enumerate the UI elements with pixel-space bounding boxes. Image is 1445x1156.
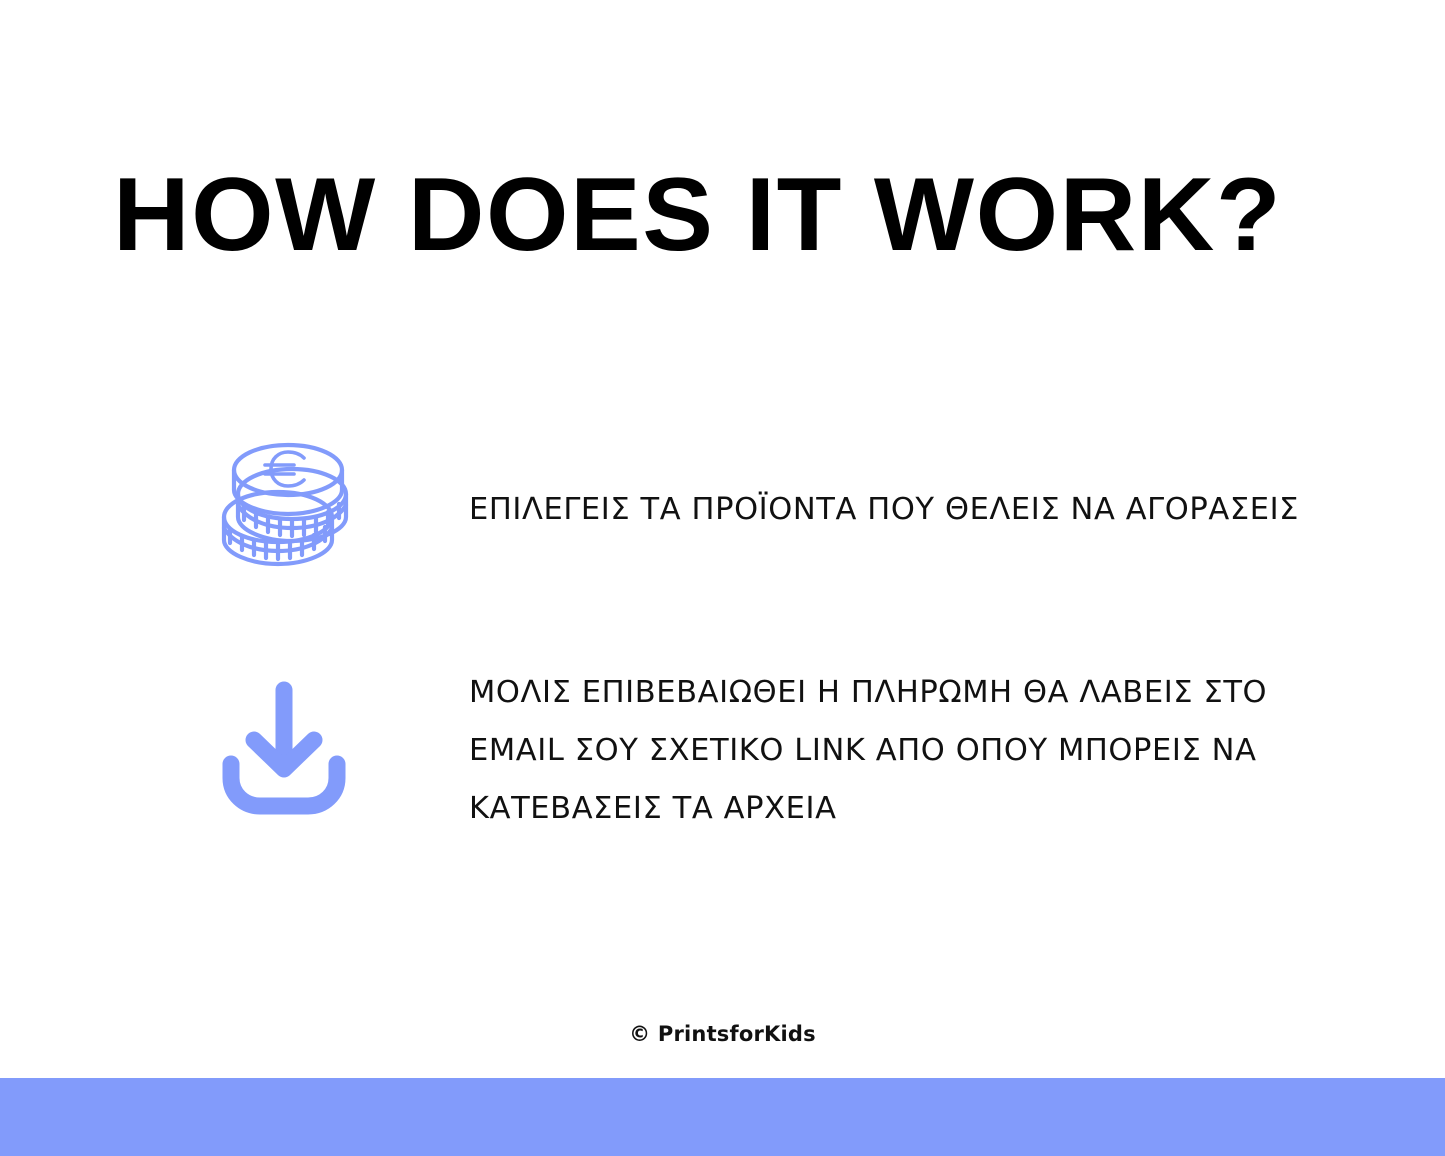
page-title: HOW DOES IT WORK? [113,160,1368,270]
step-1-text: ΕΠΙΛΕΓΕΙΣ ΤΑ ΠΡΟΪΟΝΤΑ ΠΟΥ ΘΕΛΕΙΣ ΝΑ ΑΓΟΡ… [469,481,1289,539]
step-2-line-1: ΜΟΛΙΣ ΕΠΙΒΕΒΑΙΩΘΕΙ Η ΠΛΗΡΩΜΗ ΘΑ ΛΑΒΕΙΣ Σ… [469,664,1329,722]
slide-canvas: HOW DOES IT WORK? [0,0,1445,1156]
step-2-line-2: EMAIL ΣΟΥ ΣΧΕΤΙΚΟ LINK ΑΠΟ ΟΠΟΥ ΜΠΟΡΕΙΣ … [469,722,1329,780]
coins-stack-euro-icon [216,432,356,580]
bottom-accent-bar [0,1078,1445,1156]
step-1-line-1: ΕΠΙΛΕΓΕΙΣ ΤΑ ΠΡΟΪΟΝΤΑ ΠΟΥ ΘΕΛΕΙΣ ΝΑ ΑΓΟΡ… [469,481,1289,539]
step-2-line-3: ΚΑΤΕΒΑΣΕΙΣ ΤΑ ΑΡΧΕΙΑ [469,780,1329,838]
step-2-text: ΜΟΛΙΣ ΕΠΙΒΕΒΑΙΩΘΕΙ Η ΠΛΗΡΩΜΗ ΘΑ ΛΑΒΕΙΣ Σ… [469,664,1329,838]
footer-copyright: © PrintsforKids [0,1022,1445,1046]
download-arrow-tray-icon [214,672,354,822]
